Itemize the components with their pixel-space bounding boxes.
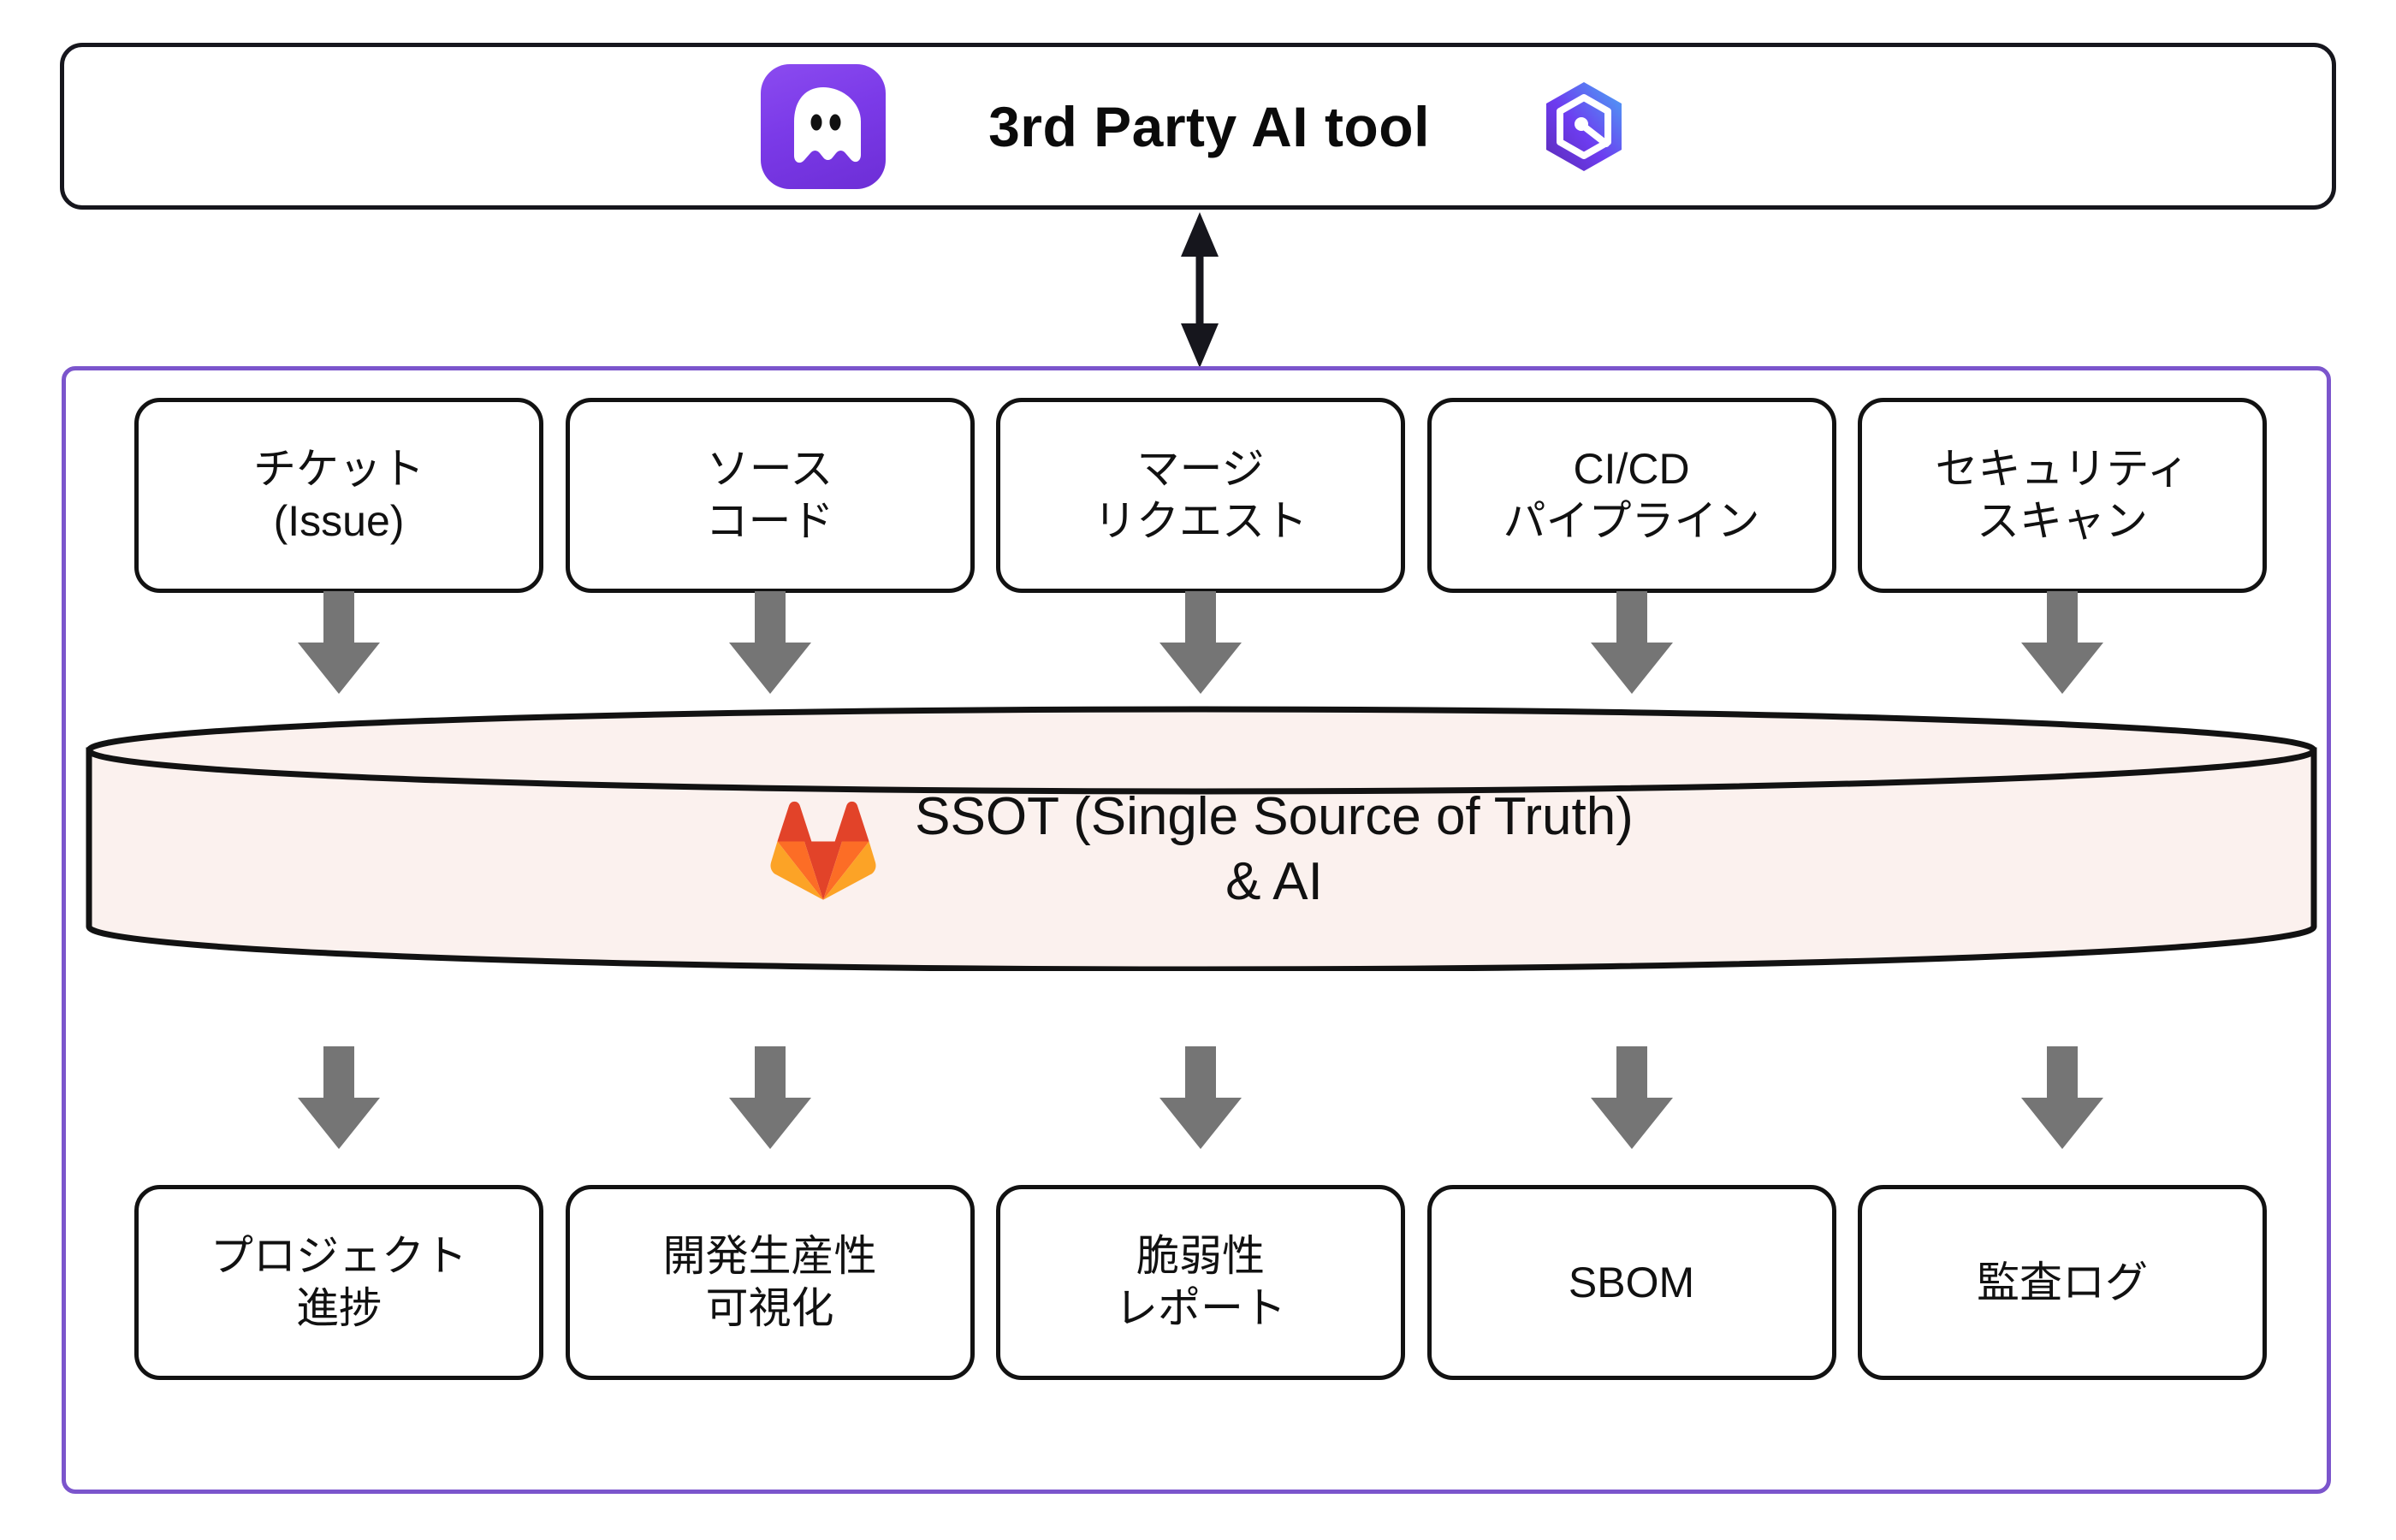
ssot-label: SSOT (Single Source of Truth) & AI bbox=[915, 785, 1634, 914]
down-arrow-icon bbox=[298, 1046, 380, 1149]
bidirectional-arrow-glyph bbox=[1165, 212, 1234, 368]
arrow-head-down bbox=[1181, 323, 1219, 368]
input-box-security-scan-line1: セキュリティ bbox=[1936, 443, 2190, 495]
diagram-canvas: 3rd Party AI tool bbox=[0, 0, 2396, 1540]
down-arrow-icon bbox=[298, 591, 380, 694]
input-box-ticket-line2: (Issue) bbox=[274, 495, 405, 548]
input-box-source-code-line1: ソース bbox=[707, 443, 833, 495]
arrow-slot-5 bbox=[1858, 591, 2267, 694]
output-row: プロジェクト 進捗 開発生産性 可視化 脆弱性 レポート SBOM 監査ログ bbox=[134, 1185, 2267, 1380]
arrow-slot-8 bbox=[996, 1046, 1405, 1149]
input-box-merge-request[interactable]: マージ リクエスト bbox=[996, 398, 1405, 593]
bidirectional-arrow bbox=[1165, 212, 1234, 368]
output-box-vulnerability-report[interactable]: 脆弱性 レポート bbox=[996, 1185, 1405, 1380]
output-arrows bbox=[134, 1046, 2267, 1149]
arrow-slot-7 bbox=[566, 1046, 975, 1149]
down-arrow-icon bbox=[1159, 591, 1242, 694]
input-box-source-code[interactable]: ソース コード bbox=[566, 398, 975, 593]
gitlab-tanuki-icon bbox=[769, 798, 877, 901]
input-box-ticket-line1: チケット bbox=[253, 443, 424, 495]
down-arrow-icon bbox=[1591, 591, 1673, 694]
ssot-datastore: SSOT (Single Source of Truth) & AI bbox=[85, 706, 2318, 971]
input-row: チケット (Issue) ソース コード マージ リクエスト CI/CD パイプ… bbox=[134, 398, 2267, 593]
input-box-security-scan-line2: スキャン bbox=[1977, 495, 2148, 548]
input-box-source-code-line2: コード bbox=[706, 495, 834, 548]
output-box-audit-log-line1: 監査ログ bbox=[1977, 1257, 2148, 1309]
output-box-dev-productivity[interactable]: 開発生産性 可視化 bbox=[566, 1185, 975, 1380]
output-box-sbom[interactable]: SBOM bbox=[1427, 1185, 1836, 1380]
input-box-ticket[interactable]: チケット (Issue) bbox=[134, 398, 543, 593]
input-box-merge-request-line1: マージ bbox=[1137, 443, 1265, 495]
output-box-dev-productivity-line1: 開発生産性 bbox=[663, 1230, 877, 1282]
arrow-slot-9 bbox=[1427, 1046, 1836, 1149]
arrow-slot-10 bbox=[1858, 1046, 2267, 1149]
hexagon-glyph bbox=[1533, 75, 1635, 178]
input-box-cicd-pipeline-line1: CI/CD bbox=[1573, 443, 1689, 495]
arrow-slot-4 bbox=[1427, 591, 1836, 694]
arrow-head-up bbox=[1181, 212, 1219, 257]
ghost-left-eye bbox=[811, 114, 822, 130]
down-arrow-icon bbox=[1159, 1046, 1242, 1149]
output-box-vulnerability-report-line1: 脆弱性 bbox=[1136, 1230, 1265, 1282]
ghost-right-eye bbox=[830, 114, 841, 130]
output-box-project-progress-line2: 進捗 bbox=[296, 1282, 382, 1335]
header-content: 3rd Party AI tool bbox=[64, 64, 2332, 189]
output-box-dev-productivity-line2: 可視化 bbox=[706, 1282, 834, 1335]
output-box-audit-log[interactable]: 監査ログ bbox=[1858, 1185, 2267, 1380]
gitlab-platform-panel: チケット (Issue) ソース コード マージ リクエスト CI/CD パイプ… bbox=[62, 366, 2331, 1494]
ssot-label-line1: SSOT (Single Source of Truth) bbox=[915, 787, 1634, 846]
arrow-slot-6 bbox=[134, 1046, 543, 1149]
arrow-slot-3 bbox=[996, 591, 1405, 694]
ghost-app-icon bbox=[761, 64, 886, 189]
output-box-sbom-line1: SBOM bbox=[1569, 1257, 1694, 1309]
arrow-slot-1 bbox=[134, 591, 543, 694]
ssot-label-line2: & AI bbox=[915, 850, 1634, 915]
hexagon-ai-icon bbox=[1533, 75, 1635, 178]
down-arrow-icon bbox=[2021, 1046, 2103, 1149]
input-box-security-scan[interactable]: セキュリティ スキャン bbox=[1858, 398, 2267, 593]
output-box-project-progress[interactable]: プロジェクト 進捗 bbox=[134, 1185, 543, 1380]
down-arrow-icon bbox=[2021, 591, 2103, 694]
down-arrow-icon bbox=[729, 1046, 811, 1149]
page-title: 3rd Party AI tool bbox=[988, 94, 1430, 159]
input-box-cicd-pipeline[interactable]: CI/CD パイプライン bbox=[1427, 398, 1836, 593]
output-box-project-progress-line1: プロジェクト bbox=[211, 1230, 467, 1282]
input-arrows bbox=[134, 591, 2267, 694]
ssot-content: SSOT (Single Source of Truth) & AI bbox=[85, 706, 2318, 971]
output-box-vulnerability-report-line2: レポート bbox=[1115, 1282, 1286, 1335]
input-box-merge-request-line2: リクエスト bbox=[1094, 495, 1308, 548]
ghost-glyph bbox=[782, 82, 864, 171]
input-box-cicd-pipeline-line2: パイプライン bbox=[1503, 495, 1760, 548]
third-party-ai-tool-panel: 3rd Party AI tool bbox=[60, 43, 2336, 210]
arrow-slot-2 bbox=[566, 591, 975, 694]
down-arrow-icon bbox=[729, 591, 811, 694]
down-arrow-icon bbox=[1591, 1046, 1673, 1149]
